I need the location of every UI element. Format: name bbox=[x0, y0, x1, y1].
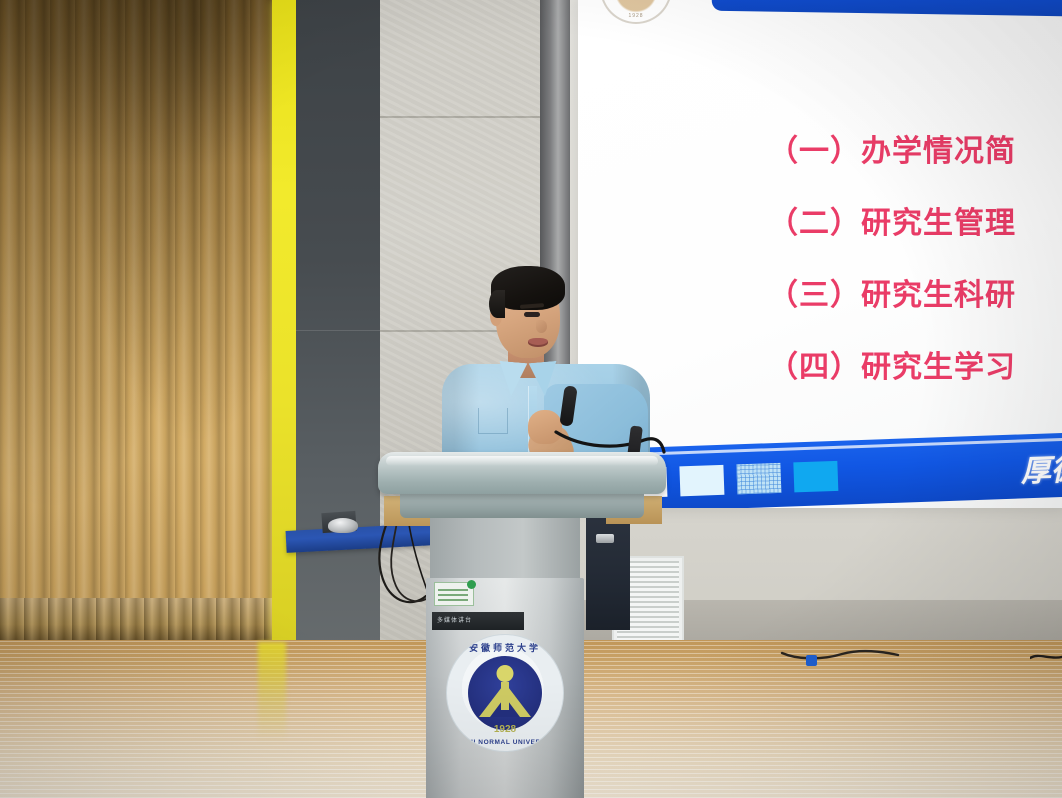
slide-line-3: （三）研究生科研 bbox=[768, 260, 1062, 332]
slide-line-2: （二）研究生管理 bbox=[768, 188, 1062, 260]
speaker-eye bbox=[524, 312, 540, 317]
podium-nameplate: 多媒体讲台 bbox=[432, 612, 524, 630]
floor-yellow-reflection bbox=[258, 642, 286, 742]
speaker-nose bbox=[536, 320, 547, 333]
podium-desktop-surface[interactable] bbox=[378, 452, 666, 494]
stage-curtain bbox=[0, 0, 272, 640]
cable-connector bbox=[806, 655, 817, 666]
floor-cable-secondary bbox=[1030, 650, 1062, 664]
seal-year: 1928 bbox=[628, 13, 643, 19]
podium-apron bbox=[400, 492, 644, 518]
lectern-podium[interactable]: 多媒体讲台 安徽师范大学 1928 ANHUI NORMAL UNIVERSIT… bbox=[378, 452, 666, 798]
emblem-english-name: ANHUI NORMAL UNIVERSITY bbox=[447, 739, 563, 746]
slide-header-bar bbox=[712, 0, 1062, 17]
university-seal-watermark: 1928 bbox=[600, 0, 672, 24]
sticker-green-dot bbox=[467, 580, 476, 589]
speaker-mouth bbox=[528, 338, 548, 347]
certification-sticker bbox=[434, 582, 474, 606]
shirt-pocket bbox=[478, 408, 508, 434]
slide-bullet-list: （一）办学情况简 （二）研究生管理 （三）研究生科研 （四）研究生学习 bbox=[768, 116, 1062, 404]
slide-line-1: （一）办学情况简 bbox=[768, 116, 1062, 188]
floor-cable bbox=[780, 648, 900, 662]
emblem-chinese-name: 安徽师范大学 bbox=[447, 641, 563, 654]
podium-upper-body bbox=[430, 514, 580, 586]
emblem-figure-head bbox=[497, 665, 514, 682]
slide-footer-square-4 bbox=[793, 461, 838, 493]
slide-footer-square-3 bbox=[736, 463, 781, 495]
slide-footer-calligraphy: 厚德 bbox=[1020, 444, 1062, 490]
podium-nameplate-text: 多媒体讲台 bbox=[437, 615, 472, 624]
emblem-figure-body bbox=[501, 682, 509, 710]
slide-line-4: （四）研究生学习 bbox=[768, 332, 1062, 404]
emblem-year: 1928 bbox=[494, 724, 516, 735]
metal-object-on-table bbox=[328, 518, 358, 533]
university-emblem: 安徽师范大学 1928 ANHUI NORMAL UNIVERSITY bbox=[446, 634, 564, 752]
emblem-core bbox=[468, 656, 542, 730]
slide-footer-square-2 bbox=[679, 465, 724, 497]
lecture-hall-scene: 1928 （一）办学情况简 （二）研究生管理 （三）研究生科研 （四）研究生学习… bbox=[0, 0, 1062, 798]
curtain-hem bbox=[0, 598, 272, 646]
